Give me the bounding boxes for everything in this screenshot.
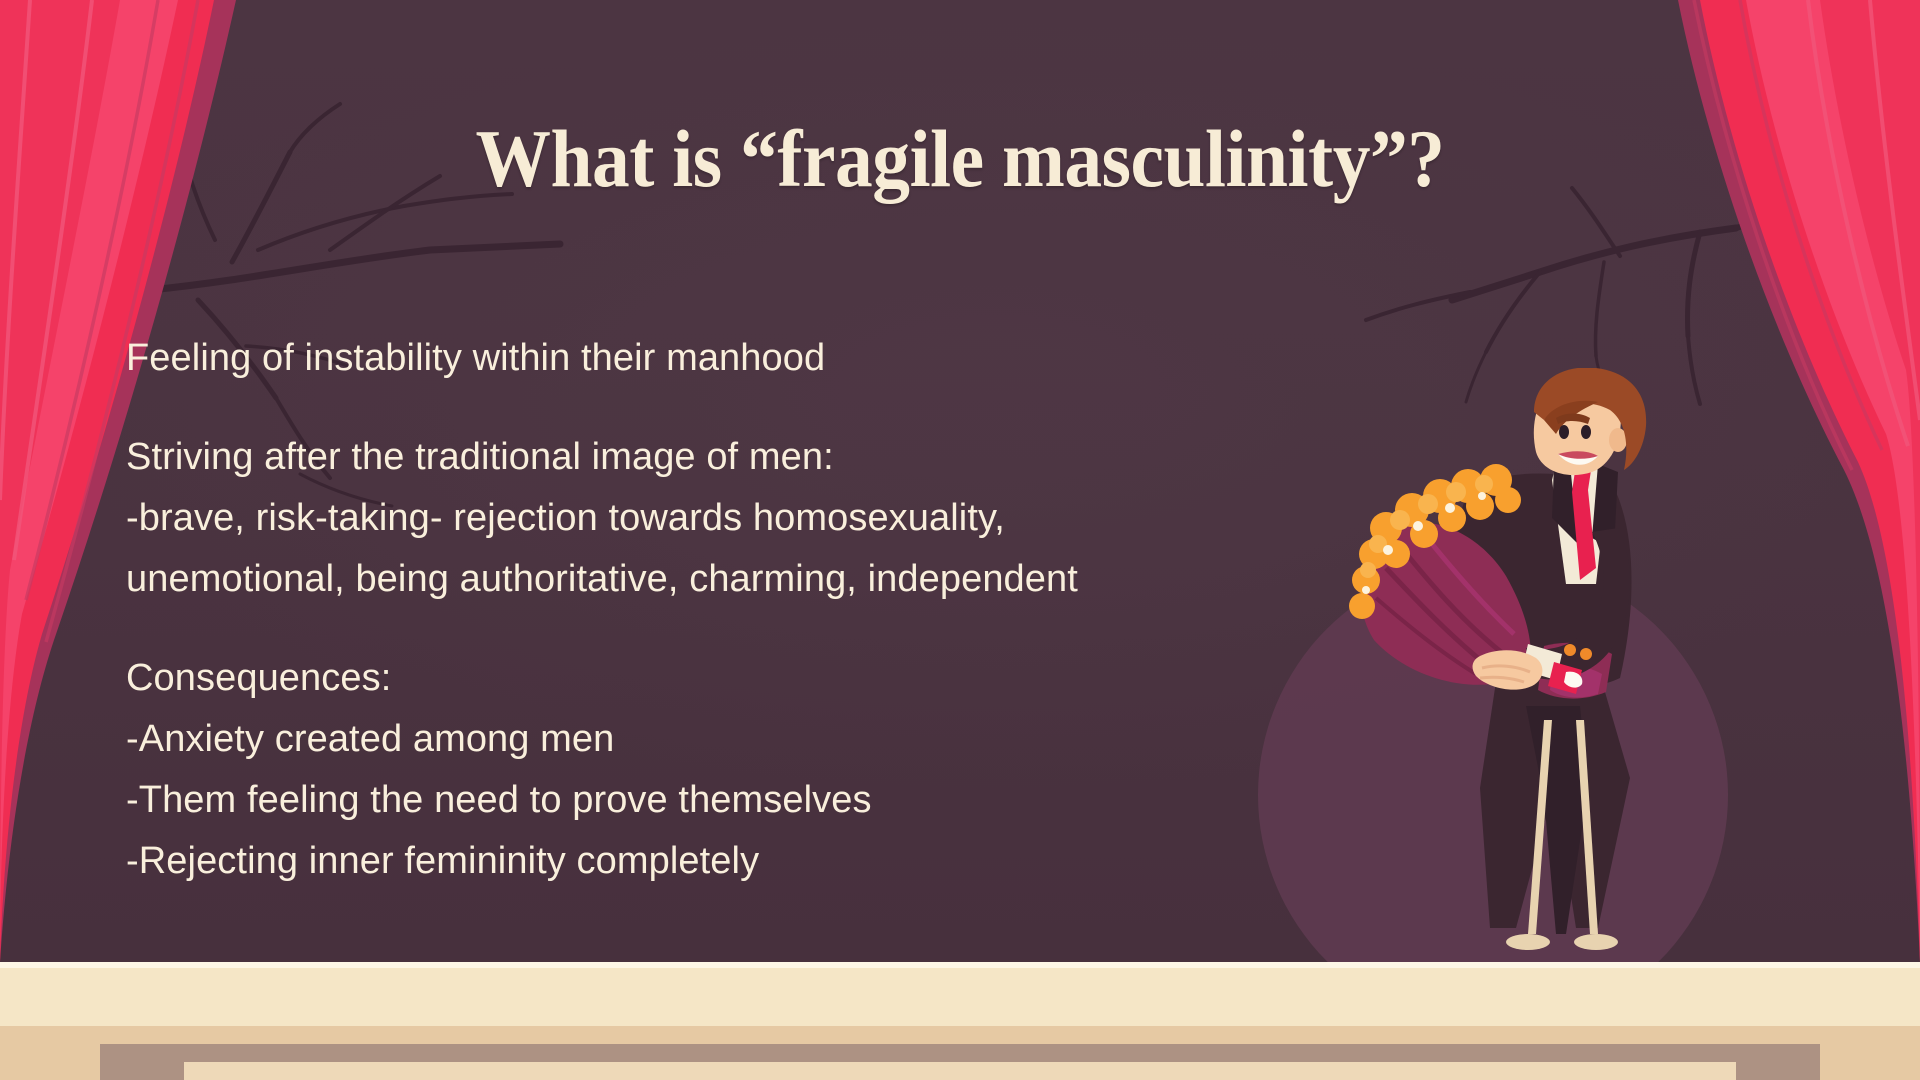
paragraph-striving: Striving after the traditional image of … [126,427,1306,610]
body-line: -brave, risk-taking- rejection towards h… [126,488,1306,549]
paragraph-definition: Feeling of instability within their manh… [126,328,1306,389]
body-line: -Them feeling the need to prove themselv… [126,770,1306,831]
slide-canvas: What is “fragile masculinity”? Feeling o… [0,0,1920,1080]
slide-body: Feeling of instability within their manh… [126,328,1306,892]
body-line: -Rejecting inner femininity completely [126,831,1306,892]
man-holding-bouquet-illustration [1330,368,1750,962]
body-line: Striving after the traditional image of … [126,427,1306,488]
stage-riser-inner [184,1062,1736,1080]
body-line: Feeling of instability within their manh… [126,328,1306,389]
paragraph-consequences: Consequences: -Anxiety created among men… [126,648,1306,892]
body-line: Consequences: [126,648,1306,709]
page-title: What is “fragile masculinity”? [77,118,1843,200]
stage-floor [0,962,1920,1080]
body-line: -Anxiety created among men [126,709,1306,770]
stage-floor-top [0,968,1920,1026]
body-line: unemotional, being authoritative, charmi… [126,549,1306,610]
